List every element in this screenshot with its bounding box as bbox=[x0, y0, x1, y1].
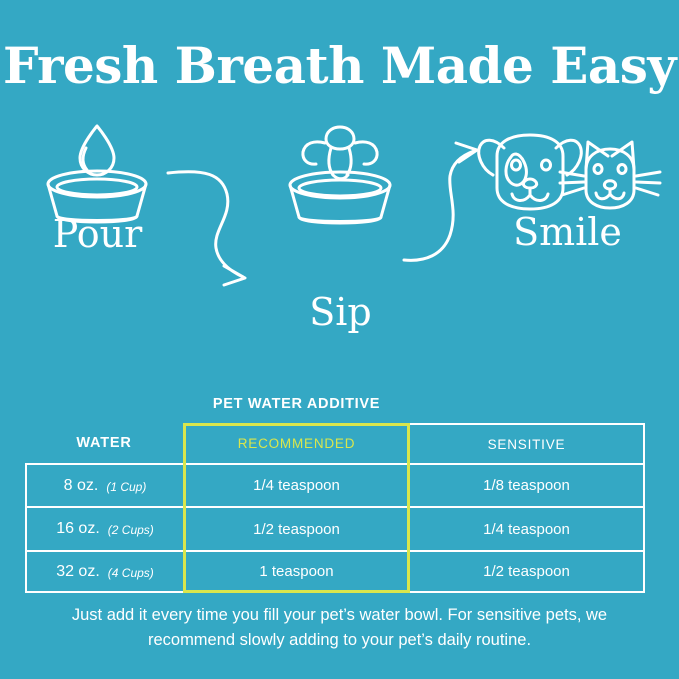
arrow-sip-to-smile bbox=[404, 143, 477, 260]
step-label-pour: Pour bbox=[0, 212, 195, 256]
water-cups-value: (4 Cups) bbox=[108, 566, 154, 580]
cell-water-amount: 16 oz. (2 Cups) bbox=[25, 506, 183, 550]
step-label-sip: Sip bbox=[243, 290, 438, 334]
step-label-smile: Smile bbox=[470, 210, 665, 254]
cat-face-icon bbox=[560, 142, 660, 208]
water-drop-over-bowl-icon bbox=[48, 126, 146, 222]
water-cups-value: (2 Cups) bbox=[108, 523, 154, 537]
dosage-table: WATER RECOMMENDED SENSITIVE 8 oz. (1 Cup… bbox=[25, 423, 645, 593]
column-header-water: WATER bbox=[25, 423, 183, 463]
table-row: 8 oz. (1 Cup) 1/4 teaspoon 1/8 teaspoon bbox=[25, 463, 645, 506]
cell-sensitive-dose: 1/8 teaspoon bbox=[410, 463, 645, 506]
cell-water-amount: 8 oz. (1 Cup) bbox=[25, 463, 183, 506]
page-title: Fresh Breath Made Easy bbox=[0, 36, 679, 95]
cell-sensitive-dose: 1/4 teaspoon bbox=[410, 506, 645, 550]
cell-water-amount: 32 oz. (4 Cups) bbox=[25, 550, 183, 593]
steps-illustration: Pour Sip Smile bbox=[0, 112, 679, 352]
cell-recommended-dose: 1/2 teaspoon bbox=[183, 506, 410, 550]
pet-drinking-from-bowl-icon bbox=[290, 127, 390, 223]
cell-sensitive-dose: 1/2 teaspoon bbox=[410, 550, 645, 593]
column-header-recommended: RECOMMENDED bbox=[183, 423, 410, 463]
table-caption: PET WATER ADDITIVE bbox=[183, 396, 410, 412]
water-cups-value: (1 Cup) bbox=[106, 480, 146, 494]
water-amount-value: 8 oz. bbox=[64, 477, 99, 495]
table-header-row: WATER RECOMMENDED SENSITIVE bbox=[25, 423, 645, 463]
water-amount-value: 16 oz. bbox=[56, 520, 100, 538]
column-header-sensitive: SENSITIVE bbox=[410, 423, 645, 463]
poster-root: Fresh Breath Made Easy bbox=[0, 0, 679, 679]
table-row: 16 oz. (2 Cups) 1/2 teaspoon 1/4 teaspoo… bbox=[25, 506, 645, 550]
cell-recommended-dose: 1 teaspoon bbox=[183, 550, 410, 593]
table-row: 32 oz. (4 Cups) 1 teaspoon 1/2 teaspoon bbox=[25, 550, 645, 593]
water-amount-value: 32 oz. bbox=[56, 563, 100, 581]
footer-note: Just add it every time you fill your pet… bbox=[30, 603, 649, 653]
cell-recommended-dose: 1/4 teaspoon bbox=[183, 463, 410, 506]
